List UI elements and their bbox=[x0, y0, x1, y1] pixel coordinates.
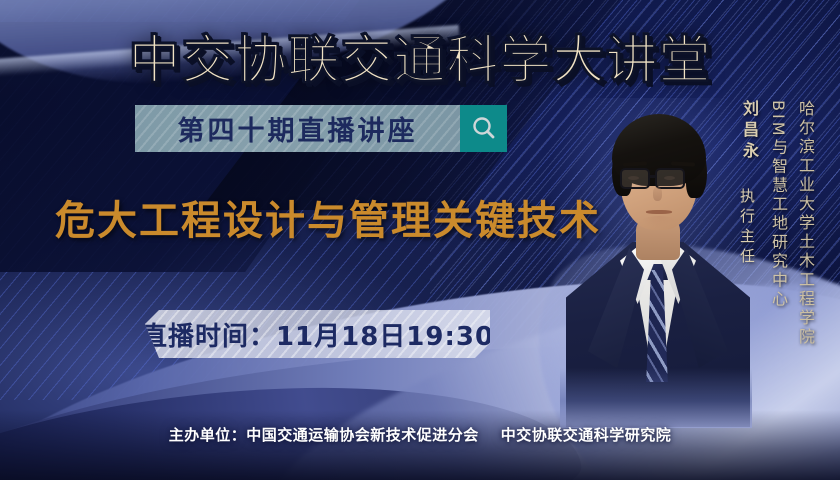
footer-organizer-2: 中交协联交通科学研究院 bbox=[501, 426, 672, 444]
glasses-lens-left bbox=[620, 168, 650, 189]
episode-banner-body: 第四十期直播讲座 bbox=[135, 105, 460, 152]
glasses-bridge bbox=[649, 175, 657, 178]
speaker-affiliation: 哈尔滨工业大学土木工程学院 bbox=[793, 100, 817, 347]
portrait-bottom-fade bbox=[560, 368, 752, 428]
footer-organizer-1: 中国交通运输协会新技术促进分会 bbox=[246, 426, 479, 444]
speaker-research-center: BIM与智慧工地研究中心 bbox=[766, 100, 790, 310]
topic-title: 危大工程设计与管理关键技术 bbox=[55, 188, 601, 246]
speaker-name: 刘昌永 bbox=[737, 100, 761, 163]
page-title: 中交协联交通科学大讲堂 bbox=[0, 18, 840, 93]
episode-label: 第四十期直播讲座 bbox=[178, 109, 418, 148]
footer-prefix: 主办单位： bbox=[169, 426, 247, 444]
live-lecture-poster: 中交协联交通科学大讲堂 第四十期直播讲座 危大工程设计与管理关键技术 直播时间：… bbox=[0, 0, 840, 480]
portrait-nose bbox=[653, 187, 662, 201]
portrait-mouth bbox=[646, 210, 672, 214]
schedule-banner: 直播时间：11月18日19:30 bbox=[145, 310, 490, 358]
speaker-portrait bbox=[560, 92, 752, 422]
glasses-lens-right bbox=[655, 168, 685, 189]
search-button[interactable] bbox=[460, 105, 507, 152]
search-icon bbox=[469, 114, 499, 144]
episode-banner: 第四十期直播讲座 bbox=[135, 105, 507, 152]
portrait-chin-shadow bbox=[640, 216, 678, 228]
speaker-role: 执行主任 bbox=[737, 188, 758, 268]
footer-organizers: 主办单位：中国交通运输协会新技术促进分会中交协联交通科学研究院 bbox=[0, 424, 840, 445]
schedule-label: 直播时间：11月18日19:30 bbox=[141, 316, 494, 353]
